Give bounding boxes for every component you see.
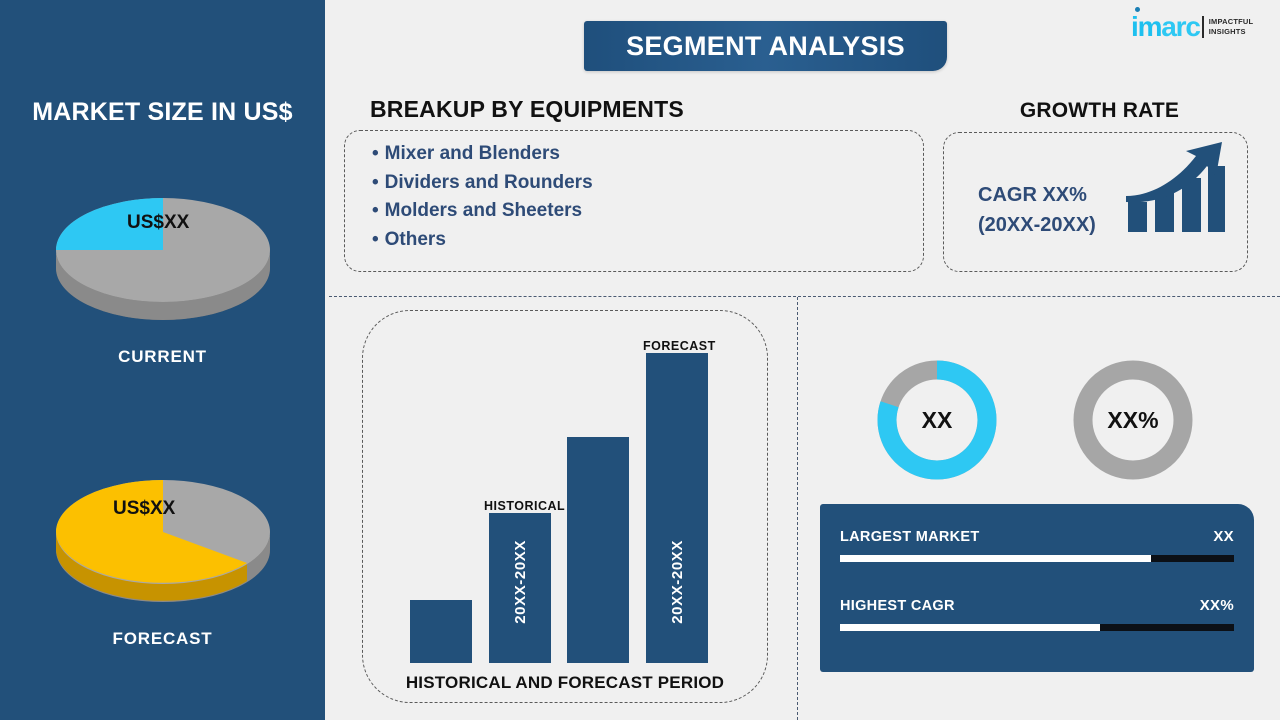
bar-4-label: 20XX-20XX xyxy=(669,540,686,624)
page-title: SEGMENT ANALYSIS xyxy=(626,31,905,62)
progress-fill xyxy=(840,555,1151,562)
bar-1 xyxy=(410,600,472,663)
stat-label: LARGEST MARKET xyxy=(840,529,980,545)
logo-tagline-line1: IMPACTFUL xyxy=(1209,17,1254,26)
list-item-label: Molders and Sheeters xyxy=(385,200,582,221)
sidebar-title: MARKET SIZE IN US$ xyxy=(0,98,325,127)
growth-arrow-bars-icon xyxy=(1124,140,1228,236)
sidebar-panel: MARKET SIZE IN US$ US$XX CURRENT US$XX xyxy=(0,0,325,720)
stats-panel: LARGEST MARKET XX HIGHEST CAGR XX% xyxy=(820,504,1254,672)
stat-header: LARGEST MARKET XX xyxy=(840,529,1234,549)
page-title-banner: SEGMENT ANALYSIS xyxy=(584,21,947,71)
logo-mark-first: im xyxy=(1131,11,1161,42)
logo-dot-icon xyxy=(1135,7,1140,12)
logo-wordmark: imarc xyxy=(1131,14,1200,39)
bullet-icon: • xyxy=(372,229,379,250)
forecast-pie-block: US$XX FORECAST xyxy=(0,432,325,649)
bullet-icon: • xyxy=(372,172,379,193)
stat-row-highest-cagr: HIGHEST CAGR XX% xyxy=(840,598,1234,631)
list-item-label: Others xyxy=(385,229,446,250)
progress-fill xyxy=(840,624,1100,631)
bar-3 xyxy=(567,437,629,663)
current-pie-chart: US$XX xyxy=(43,150,283,340)
stat-value: XX xyxy=(1213,528,1234,545)
progress-track xyxy=(840,555,1234,562)
current-pie-caption: CURRENT xyxy=(0,347,325,367)
list-item: •Molders and Sheeters xyxy=(372,197,593,226)
current-pie-block: US$XX CURRENT xyxy=(0,150,325,367)
highest-cagr-donut-label: XX% xyxy=(1107,407,1158,433)
logo-mark-second: arc xyxy=(1161,11,1199,42)
horizontal-divider xyxy=(329,296,1280,297)
cagr-line-2: (20XX-20XX) xyxy=(978,210,1096,240)
cagr-line-1: CAGR XX% xyxy=(978,180,1096,210)
imarc-logo: imarc IMPACTFUL INSIGHTS xyxy=(1131,14,1253,39)
list-item: •Dividers and Rounders xyxy=(372,169,593,198)
largest-market-donut-label: XX xyxy=(922,407,953,433)
logo-tagline-line2: INSIGHTS xyxy=(1209,27,1254,36)
stat-row-largest-market: LARGEST MARKET XX xyxy=(840,529,1234,562)
logo-tagline: IMPACTFUL INSIGHTS xyxy=(1209,17,1254,36)
growth-rate-title: GROWTH RATE xyxy=(943,99,1256,123)
forecast-pie-caption: FORECAST xyxy=(0,629,325,649)
current-pie-value: US$XX xyxy=(127,212,190,233)
list-item: •Mixer and Blenders xyxy=(372,140,593,169)
equipments-title: BREAKUP BY EQUIPMENTS xyxy=(370,96,684,123)
forecast-pie-value: US$XX xyxy=(113,498,176,519)
stat-value: XX% xyxy=(1200,597,1234,614)
logo-divider xyxy=(1202,16,1204,38)
largest-market-donut: XX xyxy=(876,357,998,483)
stat-label: HIGHEST CAGR xyxy=(840,598,955,614)
bar-chart-caption: HISTORICAL AND FORECAST PERIOD xyxy=(362,673,768,693)
bullet-icon: • xyxy=(372,143,379,164)
list-item-label: Mixer and Blenders xyxy=(385,143,560,164)
bullet-icon: • xyxy=(372,200,379,221)
highest-cagr-donut: XX% xyxy=(1072,357,1194,483)
forecast-label: FORECAST xyxy=(643,339,716,353)
list-item-label: Dividers and Rounders xyxy=(385,172,593,193)
progress-track xyxy=(840,624,1234,631)
infographic-root: MARKET SIZE IN US$ US$XX CURRENT US$XX xyxy=(0,0,1280,720)
list-item: •Others xyxy=(372,226,593,255)
equipments-list: •Mixer and Blenders •Dividers and Rounde… xyxy=(372,140,593,254)
bar-2-label: 20XX-20XX xyxy=(512,540,529,624)
stat-header: HIGHEST CAGR XX% xyxy=(840,598,1234,618)
historical-label: HISTORICAL xyxy=(484,499,565,513)
forecast-pie-chart: US$XX xyxy=(43,432,283,622)
vertical-divider xyxy=(797,297,798,720)
cagr-text: CAGR XX% (20XX-20XX) xyxy=(978,180,1096,240)
